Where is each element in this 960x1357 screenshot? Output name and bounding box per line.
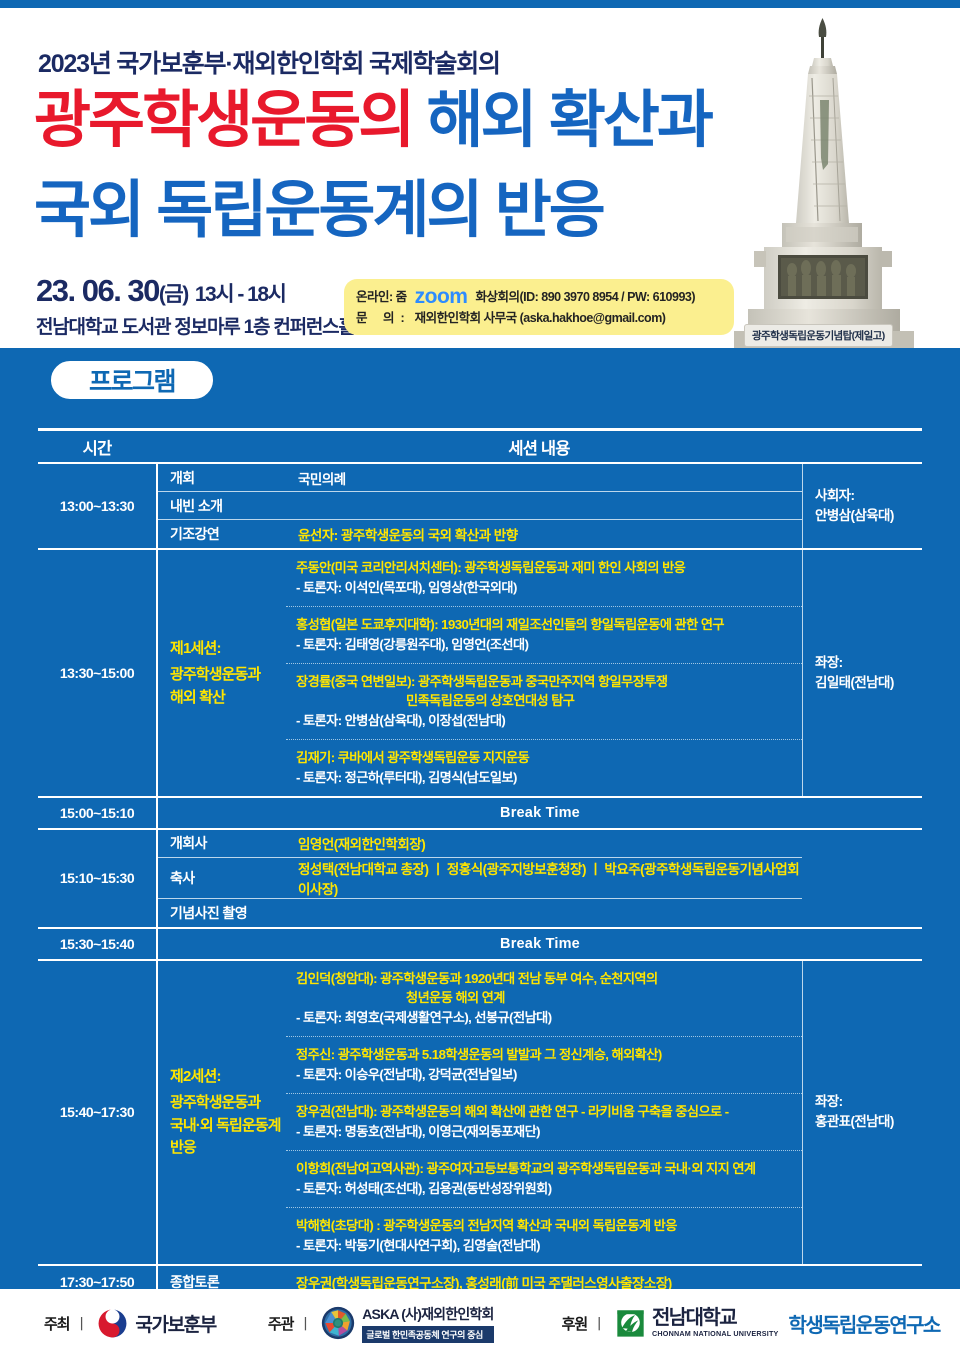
poster-root: 2023년 국가보훈부·재외한인학회 국제학술회의 광주학생운동의 해외 확산과… <box>0 0 960 1357</box>
sponsor-divider: ㅣ <box>587 1313 615 1334</box>
zoom-logo-icon: zoom <box>411 288 472 306</box>
subrow-label: 개회사 <box>158 833 288 853</box>
table-row: 15:10~15:30개회사임영언(재외한인학회장)축사정성택(전남대학교 총장… <box>38 830 922 929</box>
cnu-name-ko: 전남대학교 <box>652 1308 779 1328</box>
chair-line: 안병삼(삼육대) <box>815 506 922 526</box>
main-title-line2: 국외 독립운동계의 반응 <box>34 180 603 242</box>
table-row: 13:30~15:00제1세션:광주학생운동과해외 확산주동안(미국 코리안리서… <box>38 550 922 798</box>
paper-entry: 박해현(초당대) : 광주학생운동의 전남지역 확산과 국내외 독립운동계 반응… <box>286 1208 802 1264</box>
session-papers: 주동안(미국 코리안리서치센터): 광주학생독립운동과 재미 한인 사회의 반응… <box>286 550 802 796</box>
paper-discussants: - 토론자: 허성태(조선대), 김용권(동반성장위원회) <box>296 1179 796 1199</box>
subrow-text: 윤선자: 광주학생운동의 국외 확산과 반향 <box>288 524 802 544</box>
chair-line: 좌장: <box>815 1092 922 1112</box>
session-papers: 김인덕(청암대): 광주학생운동과 1920년대 전남 동부 여수, 순천지역의… <box>286 961 802 1264</box>
row-body: 개회사임영언(재외한인학회장)축사정성택(전남대학교 총장) ㅣ 정홍식(광주지… <box>156 830 922 927</box>
footer-sponsor-group: 후원 ㅣ 전남대학교 CHONNAM NATIONAL UNIVERSITY <box>562 1308 940 1339</box>
table-subrow: 개회사임영언(재외한인학회장) <box>158 830 802 858</box>
subrow-text: 정성택(전남대학교 총장) ㅣ 정홍식(광주지방보훈청장) ㅣ 박요주(광주학생… <box>288 858 802 898</box>
program-tab-label: 프로그램 <box>89 362 175 398</box>
session-subtitle: 국내·외 독립운동계 반응 <box>170 1115 286 1160</box>
table-subrow: 축사정성택(전남대학교 총장) ㅣ 정홍식(광주지방보훈청장) ㅣ 박요주(광주… <box>158 858 802 899</box>
cnu-logo: 전남대학교 CHONNAM NATIONAL UNIVERSITY <box>615 1308 779 1339</box>
eyebrow-text: 2023년 국가보훈부·재외한인학회 국제학술회의 <box>38 44 500 80</box>
aska-name: ASKA (사)재외한인학회 <box>362 1304 493 1324</box>
organizer-divider: ㅣ <box>293 1313 321 1334</box>
row-chair <box>802 830 922 927</box>
row-time: 15:10~15:30 <box>38 830 156 927</box>
chair-line: 좌장: <box>815 653 922 673</box>
paper-discussants: - 토론자: 박동기(현대사연구회), 김영술(전남대) <box>296 1236 796 1256</box>
paper-discussants: - 토론자: 이석인(목포대), 임영상(한국외대) <box>296 578 796 598</box>
row-chair: 사회자:안병삼(삼육대) <box>802 464 922 548</box>
footer-host-group: 주최 ㅣ 국가보훈부 <box>44 1308 216 1339</box>
monument-caption: 광주학생독립운동기념탑(제일고) <box>744 324 893 347</box>
table-row: 15:00~15:10Break Time <box>38 798 922 830</box>
program-tab: 프로그램 <box>48 358 216 402</box>
session-subtitle: 광주학생운동과 <box>170 664 286 687</box>
contact-label: 문 의: <box>356 308 411 329</box>
sponsor-label: 후원 <box>562 1313 588 1334</box>
online-info-box: 온라인: 줌 zoom 화상회의(ID: 890 3970 8954 / PW:… <box>344 279 734 335</box>
paper-discussants: - 토론자: 정근하(루터대), 김명식(남도일보) <box>296 768 796 788</box>
institute-label: 학생독립운동연구소 <box>789 1315 940 1337</box>
paper-title: 장경률(중국 연변일보): 광주학생독립운동과 중국만주지역 항일무장투쟁 <box>296 672 796 691</box>
session-label: 제1세션:광주학생운동과해외 확산 <box>156 550 286 796</box>
event-venue: 전남대학교 도서관 정보마루 1층 컨퍼런스홀 <box>36 312 355 339</box>
paper-entry: 주동안(미국 코리안리서치센터): 광주학생독립운동과 재미 한인 사회의 반응… <box>286 550 802 607</box>
paper-title: 주동안(미국 코리안리서치센터): 광주학생독립운동과 재미 한인 사회의 반응 <box>296 558 796 577</box>
subrow-group: 개회국민의례내빈 소개기조강연윤선자: 광주학생운동의 국외 확산과 반향 <box>156 464 802 548</box>
row-body: 개회국민의례내빈 소개기조강연윤선자: 광주학생운동의 국외 확산과 반향사회자… <box>156 464 922 548</box>
row-chair: 좌장:홍관표(전남대) <box>802 961 922 1264</box>
subrow-label: 축사 <box>158 868 288 888</box>
table-row: 13:00~13:30개회국민의례내빈 소개기조강연윤선자: 광주학생운동의 국… <box>38 464 922 550</box>
subrow-label: 개회 <box>158 468 288 488</box>
subrow-label: 기념사진 촬영 <box>158 903 288 923</box>
row-time: 13:00~13:30 <box>38 464 156 548</box>
paper-discussants: - 토론자: 김태영(강릉원주대), 임영언(조선대) <box>296 635 796 655</box>
globe-icon <box>321 1306 355 1340</box>
table-subrow: 내빈 소개 <box>158 492 802 520</box>
date-weekday: (금) <box>159 283 188 306</box>
subrow-text: 국민의례 <box>288 468 802 488</box>
organizer-label: 주관 <box>268 1313 294 1334</box>
paper-title: 홍성협(일본 도쿄후지대학): 1930년대의 재일조선인들의 항일독립운동에 … <box>296 615 796 634</box>
monument-illustration-icon <box>734 8 914 348</box>
subrow-label: 내빈 소개 <box>158 496 288 516</box>
online-label: 온라인: 줌 <box>356 287 407 308</box>
monument-photo: 광주학생독립운동기념탑(제일고) <box>734 8 914 348</box>
paper-discussants: - 토론자: 명동호(전남대), 이영근(재외동포재단) <box>296 1122 796 1142</box>
row-body: 제1세션:광주학생운동과해외 확산주동안(미국 코리안리서치센터): 광주학생독… <box>156 550 922 796</box>
institute-logo: 학생독립운동연구소 <box>789 1309 940 1338</box>
paper-title: 김인덕(청암대): 광주학생운동과 1920년대 전남 동부 여수, 순천지역의 <box>296 969 796 988</box>
aska-tagline: 글로벌 한민족공동체 연구의 중심 <box>362 1326 493 1343</box>
event-date: 23. 06. 30(금) 13시 - 18시 <box>36 273 285 309</box>
paper-discussants: - 토론자: 안병삼(삼육대), 이장섭(전남대) <box>296 711 796 731</box>
break-time-text: Break Time <box>156 929 922 959</box>
mpva-logo: 국가보훈부 <box>97 1308 215 1339</box>
paper-title-cont: 민족독립운동의 상호연대성 탐구 <box>296 691 796 710</box>
paper-entry: 장우권(전남대): 광주학생운동의 해외 확산에 관한 연구 - 라키비움 구축… <box>286 1094 802 1151</box>
table-subrow: 기념사진 촬영 <box>158 899 802 927</box>
session-name: 제2세션: <box>170 1065 286 1088</box>
paper-entry: 정주신: 광주학생운동과 5.18학생운동의 발발과 그 정신계승, 해외확산)… <box>286 1037 802 1094</box>
title-part-blue: 해외 확산과 <box>412 86 711 155</box>
program-table: 시간 세션 내용 13:00~13:30개회국민의례내빈 소개기조강연윤선자: … <box>38 428 922 1334</box>
break-time-text: Break Time <box>156 798 922 828</box>
main-title-line1: 광주학생운동의 해외 확산과 <box>34 90 711 152</box>
table-row: 15:30~15:40Break Time <box>38 929 922 961</box>
table-subrow: 개회국민의례 <box>158 464 802 492</box>
session-subtitle: 해외 확산 <box>170 687 286 710</box>
contact-value: 재외한인학회 사무국 (aska.hakhoe@gmail.com) <box>415 308 666 329</box>
paper-entry: 홍성협(일본 도쿄후지대학): 1930년대의 재일조선인들의 항일독립운동에 … <box>286 607 802 664</box>
table-header-row: 시간 세션 내용 <box>38 428 922 464</box>
chair-line: 김일태(전남대) <box>815 673 922 693</box>
hero-header: 2023년 국가보훈부·재외한인학회 국제학술회의 광주학생운동의 해외 확산과… <box>0 8 960 348</box>
row-time: 15:40~17:30 <box>38 961 156 1264</box>
col-header-session: 세션 내용 <box>156 435 922 459</box>
row-time: 15:30~15:40 <box>38 929 156 959</box>
taegeuk-icon <box>97 1308 128 1339</box>
host-divider: ㅣ <box>70 1313 98 1334</box>
paper-entry: 김인덕(청암대): 광주학생운동과 1920년대 전남 동부 여수, 순천지역의… <box>286 961 802 1037</box>
paper-entry: 이항희(전남여고역사관): 광주여자고등보통학교의 광주학생독립운동과 국내·외… <box>286 1151 802 1208</box>
table-body: 13:00~13:30개회국민의례내빈 소개기조강연윤선자: 광주학생운동의 국… <box>38 464 922 1334</box>
subrow-text: 임영언(재외한인학회장) <box>288 833 802 853</box>
paper-entry: 김재기: 쿠바에서 광주학생독립운동 지지운동- 토론자: 정근하(루터대), … <box>286 740 802 796</box>
paper-title: 이항희(전남여고역사관): 광주여자고등보통학교의 광주학생독립운동과 국내·외… <box>296 1159 796 1178</box>
row-body: 제2세션:광주학생운동과국내·외 독립운동계 반응김인덕(청암대): 광주학생운… <box>156 961 922 1264</box>
date-time: 13시 - 18시 <box>195 283 286 306</box>
zoom-meeting-info: 화상회의(ID: 890 3970 8954 / PW: 610993) <box>475 287 695 308</box>
footer-sponsors: 주최 ㅣ 국가보훈부 주관 ㅣ <box>0 1289 960 1357</box>
cnu-emblem-icon <box>615 1308 646 1339</box>
paper-title: 정주신: 광주학생운동과 5.18학생운동의 발발과 그 정신계승, 해외확산) <box>296 1045 796 1064</box>
paper-title-cont: 청년운동 해외 연계 <box>296 988 796 1007</box>
title-part-red: 광주학생운동의 <box>34 86 412 155</box>
paper-entry: 장경률(중국 연변일보): 광주학생독립운동과 중국만주지역 항일무장투쟁민족독… <box>286 664 802 740</box>
subrow-group: 개회사임영언(재외한인학회장)축사정성택(전남대학교 총장) ㅣ 정홍식(광주지… <box>156 830 802 927</box>
session-label: 제2세션:광주학생운동과국내·외 독립운동계 반응 <box>156 961 286 1264</box>
zoom-info-row: 온라인: 줌 zoom 화상회의(ID: 890 3970 8954 / PW:… <box>356 286 722 308</box>
aska-logo: ASKA (사)재외한인학회 글로벌 한민족공동체 연구의 중심 <box>321 1304 493 1343</box>
host-label: 주최 <box>44 1313 70 1334</box>
col-header-time: 시간 <box>38 435 156 459</box>
paper-discussants: - 토론자: 이승우(전남대), 강덕균(전남일보) <box>296 1065 796 1085</box>
table-subrow: 기조강연윤선자: 광주학생운동의 국외 확산과 반향 <box>158 520 802 548</box>
paper-discussants: - 토론자: 최영호(국제생활연구소), 선봉규(전남대) <box>296 1008 796 1028</box>
chair-line: 사회자: <box>815 486 922 506</box>
paper-title: 장우권(전남대): 광주학생운동의 해외 확산에 관한 연구 - 라키비움 구축… <box>296 1102 796 1121</box>
footer-organizer-group: 주관 ㅣ <box>268 1304 494 1343</box>
session-subtitle: 광주학생운동과 <box>170 1092 286 1115</box>
mpva-label: 국가보훈부 <box>135 1310 215 1337</box>
chair-line: 홍관표(전남대) <box>815 1112 922 1132</box>
row-time: 15:00~15:10 <box>38 798 156 828</box>
paper-title: 김재기: 쿠바에서 광주학생독립운동 지지운동 <box>296 748 796 767</box>
subrow-label: 기조강연 <box>158 524 288 544</box>
table-row: 15:40~17:30제2세션:광주학생운동과국내·외 독립운동계 반응김인덕(… <box>38 961 922 1266</box>
row-time: 13:30~15:00 <box>38 550 156 796</box>
date-value: 23. 06. 30 <box>36 273 159 308</box>
row-chair: 좌장:김일태(전남대) <box>802 550 922 796</box>
contact-row: 문 의: 재외한인학회 사무국 (aska.hakhoe@gmail.com) <box>356 308 722 329</box>
paper-title: 박해현(초당대) : 광주학생운동의 전남지역 확산과 국내외 독립운동계 반응 <box>296 1216 796 1235</box>
cnu-name-en: CHONNAM NATIONAL UNIVERSITY <box>652 1329 779 1338</box>
session-name: 제1세션: <box>170 637 286 660</box>
